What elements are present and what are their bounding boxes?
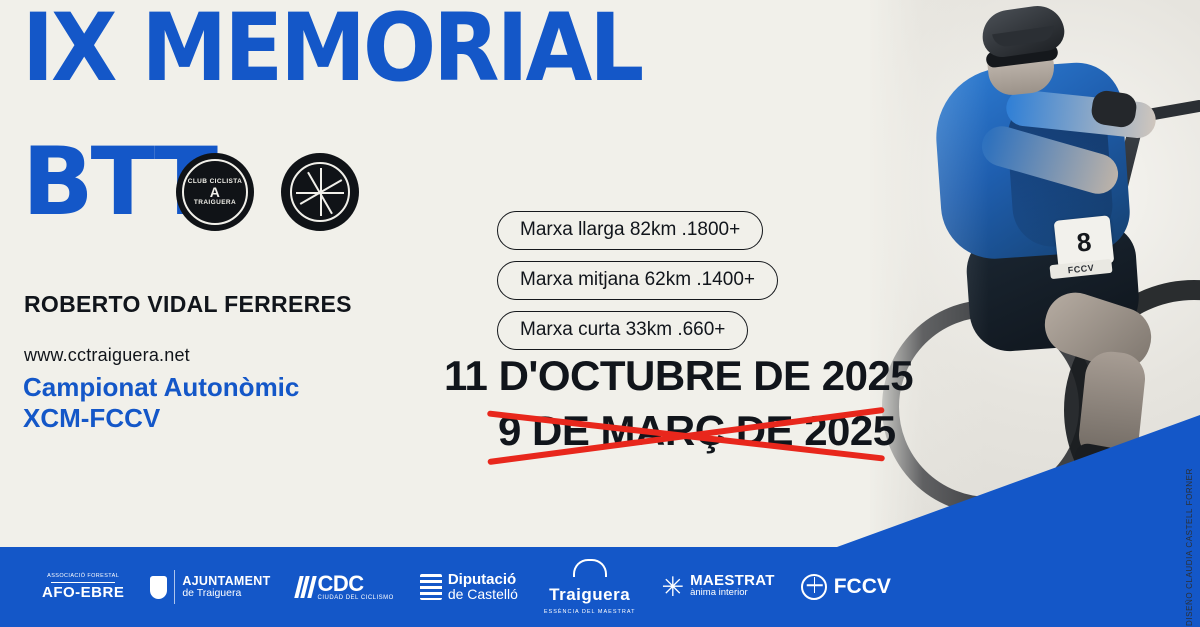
sponsor-cdc: CDC CIUDAD DEL CICLISMO: [297, 573, 394, 601]
club-ciclista-traiguera-logo: CLUB CICLISTA A TRAIGUERA: [176, 153, 254, 231]
website-link[interactable]: www.cctraiguera.net: [24, 345, 190, 366]
club-logo-mid-text: A: [210, 186, 221, 199]
maestrat-line-1: MAESTRAT: [690, 575, 775, 587]
star-icon: ✳: [661, 575, 684, 599]
club-logo-top-text: CLUB CICLISTA: [188, 178, 243, 185]
sponsor-divider: [174, 570, 175, 604]
maestrat-logo-text: MAESTRAT ànima interior: [690, 575, 775, 599]
traiguera-line-1: Traiguera: [549, 586, 630, 603]
sponsor-diputacio-castello: Diputació de Castelló: [420, 573, 518, 601]
ajuntament-line-1: AJUNTAMENT: [182, 575, 270, 587]
diputacio-line-1: Diputació: [448, 573, 518, 587]
ajuntament-logo-text: AJUNTAMENT de Traiguera: [182, 575, 270, 599]
sponsor-afo-ebre: ASSOCIACIÓ FORESTAL AFO-EBRE: [42, 574, 124, 600]
poster-root: 8 FCCV IX MEMORIAL BTT CLUB CICLISTA A T…: [0, 0, 1200, 627]
arch-icon: [573, 559, 607, 577]
sponsor-fccv: FCCV: [801, 574, 891, 600]
shield-icon: [150, 576, 167, 599]
fccv-label: FCCV: [834, 575, 891, 599]
page-title: IX MEMORIAL: [22, 6, 641, 92]
club-logo-ring: CLUB CICLISTA A TRAIGUERA: [182, 159, 248, 225]
cdc-bars-icon: [297, 576, 314, 598]
traiguera-line-2: ESSÈNCIA DEL MAESTRAT: [544, 610, 636, 616]
designer-credit: DISEÑO CLAUDIA CASTELL FORNER: [1185, 468, 1194, 626]
diputacio-glyph-icon: [420, 574, 442, 600]
club-logo-bottom-text: TRAIGUERA: [194, 199, 236, 206]
event-date-old-wrapper: 9 DE MARÇ DE 2025: [498, 407, 896, 455]
diputacio-logo-text: Diputació de Castelló: [448, 573, 518, 601]
afo-ebre-logo: ASSOCIACIÓ FORESTAL AFO-EBRE: [42, 574, 124, 600]
cyclist-wheel-icon: [281, 153, 359, 231]
route-pill-long: Marxa llarga 82km .1800+: [497, 211, 763, 250]
sponsor-ajuntament-traiguera: AJUNTAMENT de Traiguera: [150, 570, 270, 604]
route-pill-short: Marxa curta 33km .660+: [497, 311, 748, 350]
routes-list: Marxa llarga 82km .1800+ Marxa mitjana 6…: [497, 211, 778, 350]
afo-ebre-rule: [51, 582, 115, 583]
sponsor-bar: ASSOCIACIÓ FORESTAL AFO-EBRE AJUNTAMENT …: [0, 547, 1200, 627]
event-date-new: 11 D'OCTUBRE DE 2025: [444, 352, 913, 400]
afo-ebre-name: AFO-EBRE: [42, 585, 124, 600]
ajuntament-line-2: de Traiguera: [182, 587, 270, 599]
fccv-wheel-icon: [801, 574, 827, 600]
cdc-line-1: CDC: [318, 573, 394, 595]
sponsor-maestrat: ✳ MAESTRAT ànima interior: [661, 575, 774, 599]
wheel-spokes-icon: [290, 162, 350, 222]
sponsor-traiguera: Traiguera ESSÈNCIA DEL MAESTRAT: [544, 559, 636, 616]
cdc-logo-text: CDC CIUDAD DEL CICLISMO: [318, 573, 394, 601]
dedication-text: ROBERTO VIDAL FERRERES: [24, 291, 352, 318]
sponsor-logos: ASSOCIACIÓ FORESTAL AFO-EBRE AJUNTAMENT …: [42, 559, 891, 616]
route-pill-medium: Marxa mitjana 62km .1400+: [497, 261, 778, 300]
afo-ebre-top-text: ASSOCIACIÓ FORESTAL: [47, 574, 119, 580]
championship-line-1: Campionat Autonòmic: [23, 372, 299, 403]
diputacio-line-2: de Castelló: [448, 587, 518, 601]
championship-line-2: XCM-FCCV: [23, 403, 299, 434]
championship-block: Campionat Autonòmic XCM-FCCV: [23, 372, 299, 434]
cdc-line-2: CIUDAD DEL CICLISMO: [318, 595, 394, 601]
wheel-bar-icon: [296, 192, 344, 194]
maestrat-line-2: ànima interior: [690, 587, 775, 599]
